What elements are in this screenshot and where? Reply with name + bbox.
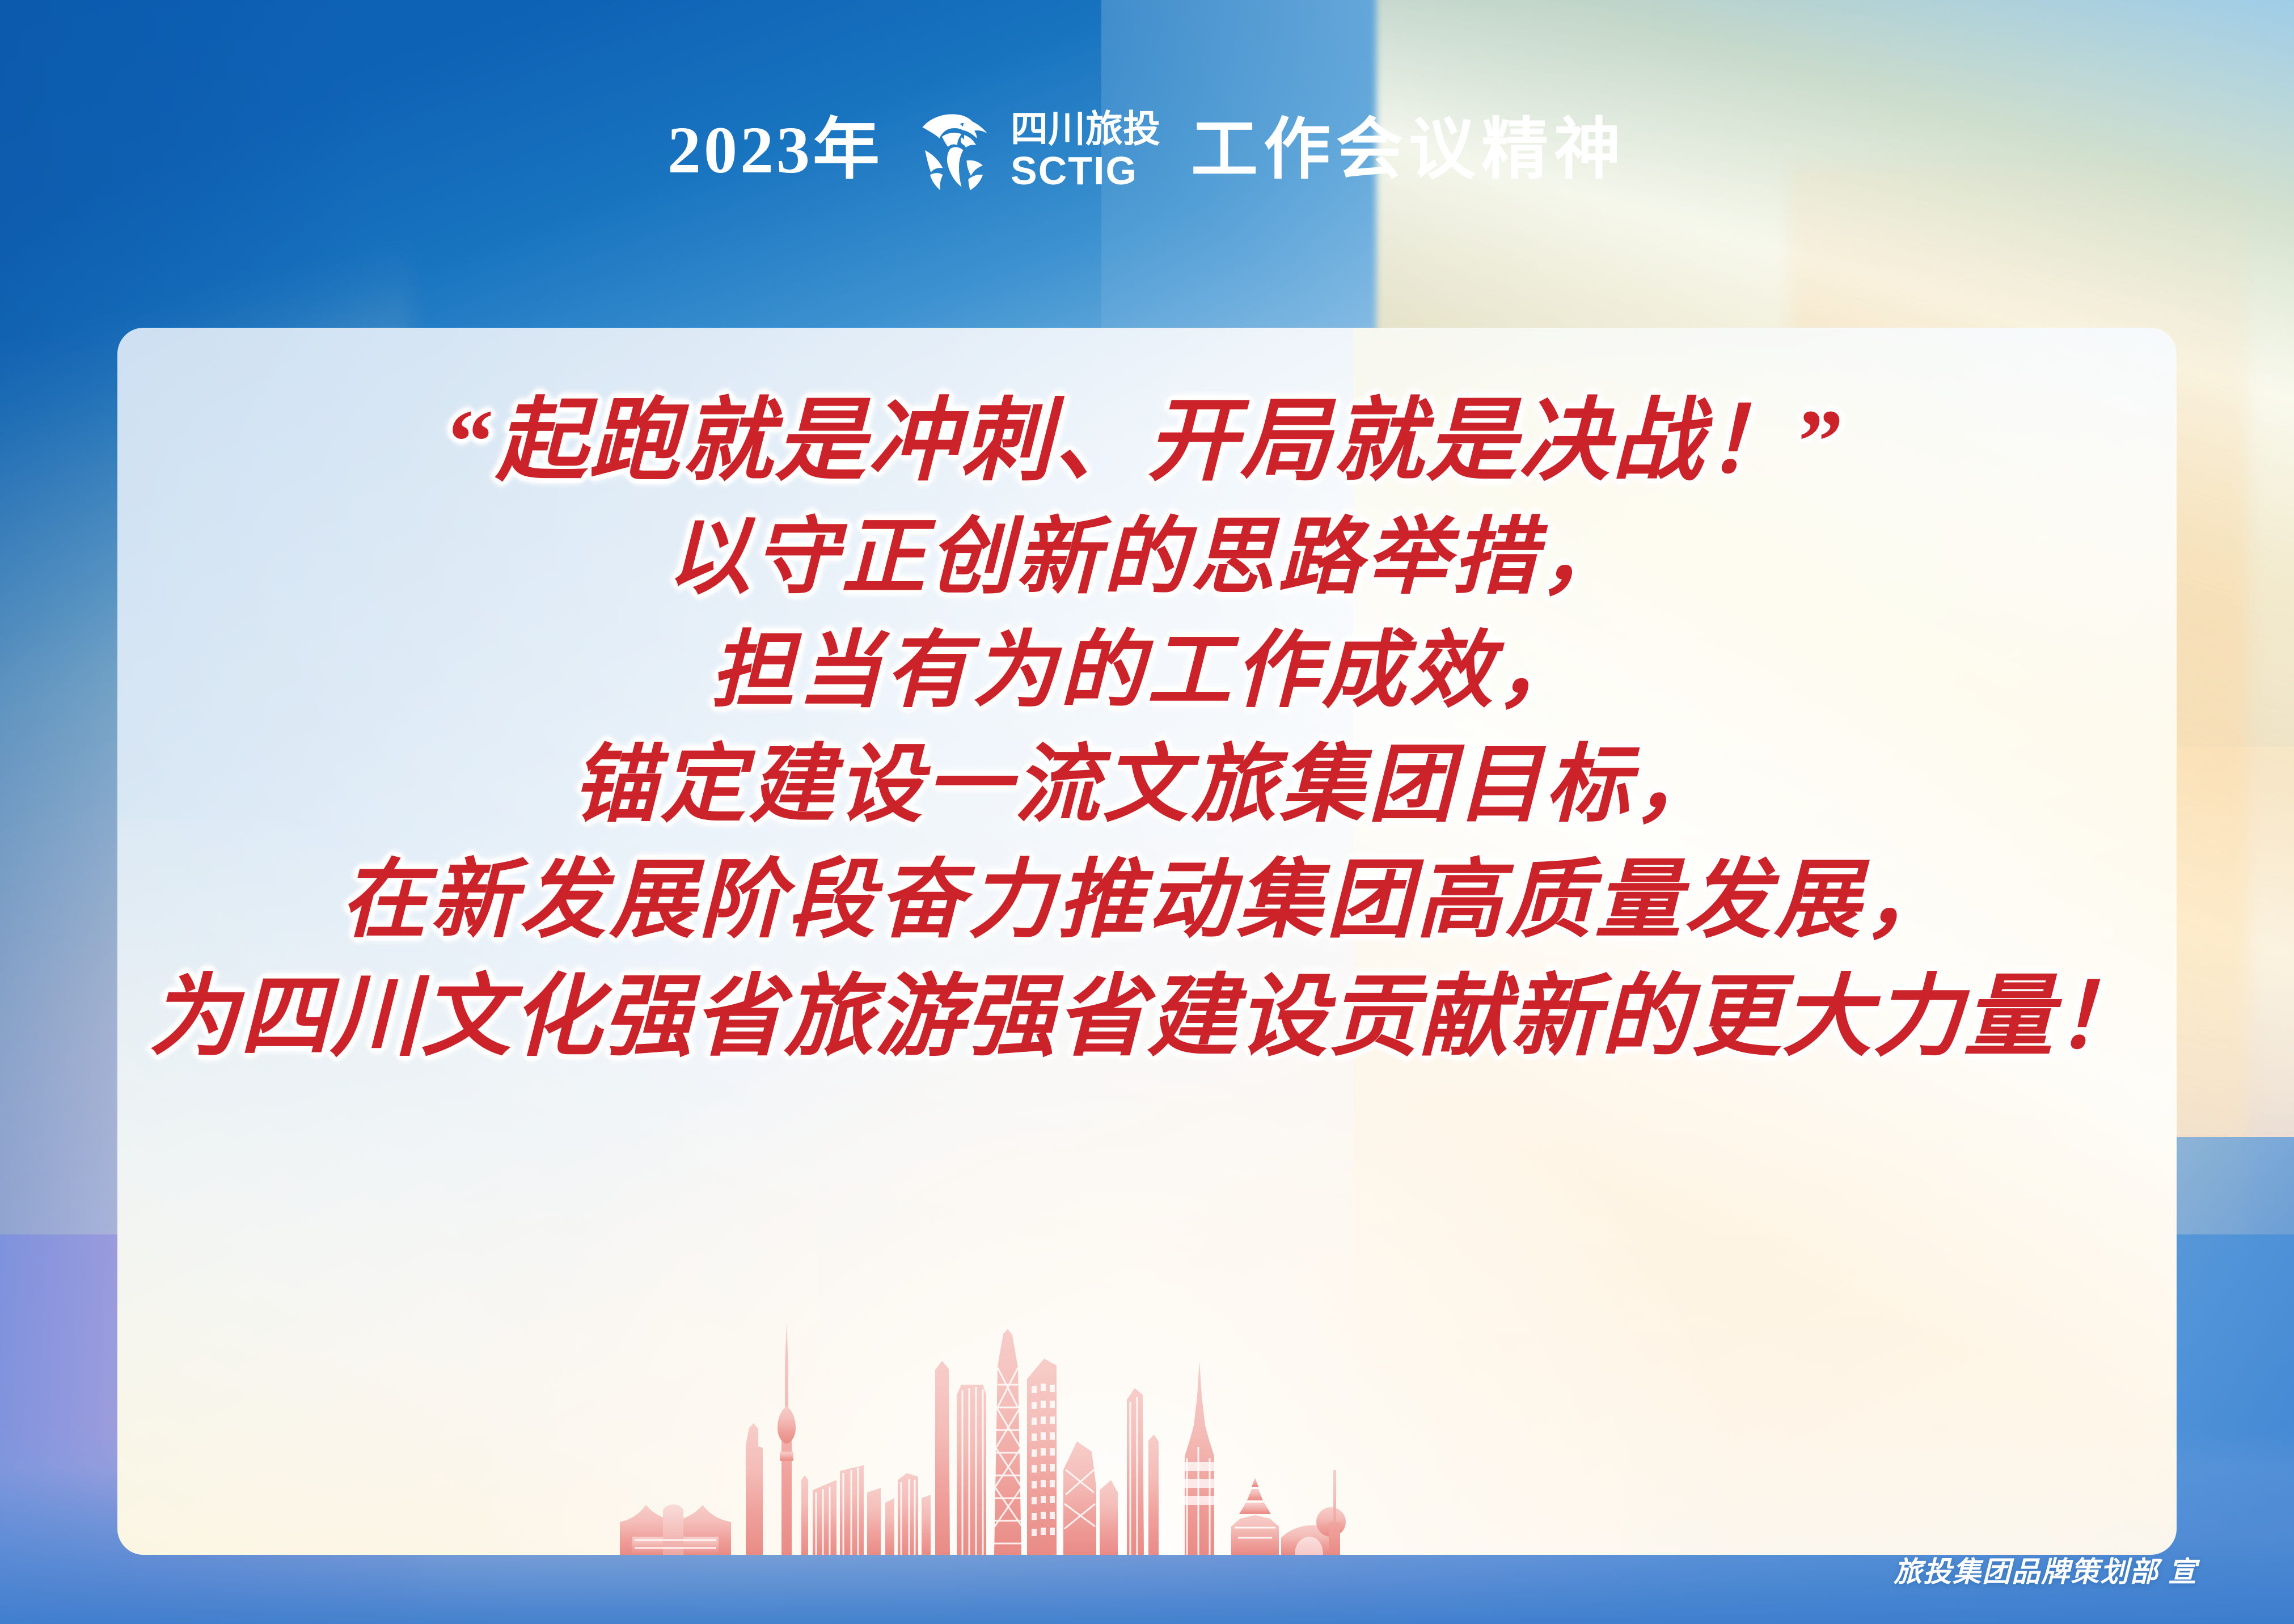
slogan-line-3: 担当有为的工作成效， xyxy=(711,629,1584,713)
slogan-block: “起跑就是冲刺、开局就是决战！” 以守正创新的思路举措， 担当有为的工作成效， … xyxy=(117,352,2177,1063)
brand-name-en: SCTIG xyxy=(1011,151,1138,191)
sctig-globe-logo-icon xyxy=(913,108,998,193)
slogan-line-5: 在新发展阶段奋力推动集团高质量发展， xyxy=(341,857,1954,944)
header-title-tail: 工作会议精神 xyxy=(1191,117,1626,184)
slogan-line-6: 为四川文化强省旅游强省建设贡献新的更大力量！ xyxy=(149,973,2145,1063)
slogan-line-2: 以守正创新的思路举措， xyxy=(667,516,1628,600)
brand-name-cn: 四川旅投 xyxy=(1011,110,1160,147)
brand-logo: 四川旅投 SCTIG xyxy=(913,108,1160,193)
card-center-glow xyxy=(488,991,1724,1555)
slogan-line-4: 锚定建设一流文旅集团目标， xyxy=(572,743,1722,828)
footer-credit: 旅投集团品牌策划部 宣 xyxy=(1894,1549,2198,1590)
quote-close: ” xyxy=(1798,391,1846,492)
poster-root: 2023年 xyxy=(0,0,2294,1624)
slogan-line-1: “起跑就是冲刺、开局就是决战！” xyxy=(448,396,1845,487)
slogan-line-1-text: 起跑就是冲刺、开局就是决战！ xyxy=(496,391,1798,492)
poster-header: 2023年 xyxy=(0,85,2294,215)
brand-logo-wordmark: 四川旅投 SCTIG xyxy=(1011,110,1160,191)
header-year-label: 2023年 xyxy=(668,117,882,184)
quote-open: “ xyxy=(448,391,496,492)
